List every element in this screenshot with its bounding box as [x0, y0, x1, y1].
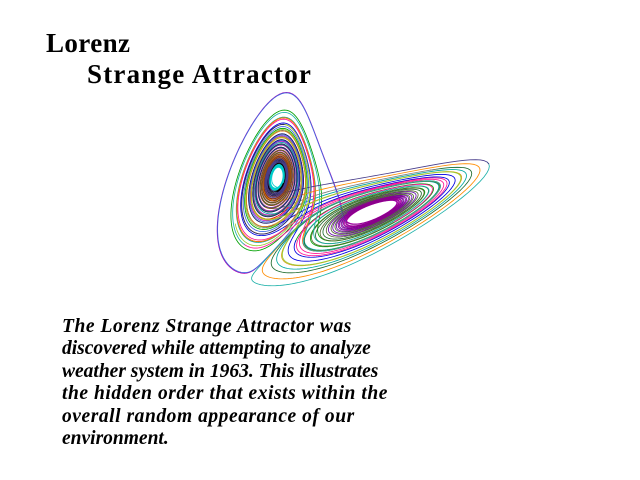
caption-paragraph: The Lorenz Strange Attractor was discove…	[62, 316, 582, 450]
slide-canvas: Lorenz Strange Attractor The Lorenz Stra…	[0, 0, 640, 480]
lorenz-attractor-figure	[128, 84, 512, 316]
caption-line: overall random appearance of our	[62, 406, 582, 428]
lorenz-attractor-plot	[128, 84, 512, 316]
caption-line: The Lorenz Strange Attractor was	[62, 316, 582, 338]
page-title: Lorenz Strange Attractor	[0, 28, 640, 90]
orbit-paths	[217, 92, 489, 285]
caption-line: environment.	[62, 428, 582, 450]
title-line-primary: Lorenz	[0, 28, 640, 59]
caption-line: weather system in 1963. This illustrates	[62, 361, 582, 383]
caption-line: the hidden order that exists within the	[62, 383, 582, 405]
caption-line: discovered while attempting to analyze	[62, 338, 582, 360]
